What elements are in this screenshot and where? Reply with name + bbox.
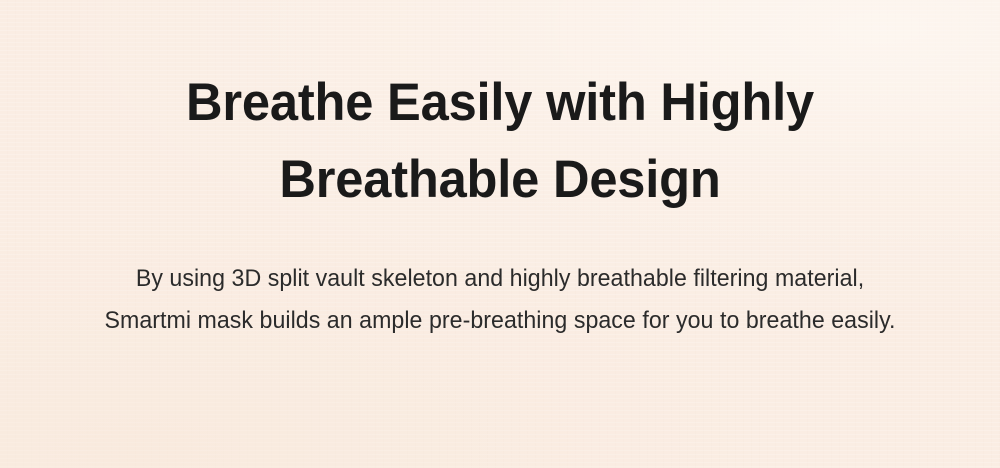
headline-line-2: Breathable Design [23,141,978,218]
headline-line-1: Breathe Easily with Highly [23,64,978,141]
description-line-2: Smartmi mask builds an ample pre-breathi… [18,300,983,342]
banner-content: Breathe Easily with Highly Breathable De… [0,0,1000,342]
description-line-1: By using 3D split vault skeleton and hig… [18,258,983,300]
banner-empty-lower-region [0,342,1000,468]
banner-headline: Breathe Easily with Highly Breathable De… [23,64,978,218]
banner-description: By using 3D split vault skeleton and hig… [18,218,983,342]
product-feature-banner: Breathe Easily with Highly Breathable De… [0,0,1000,468]
